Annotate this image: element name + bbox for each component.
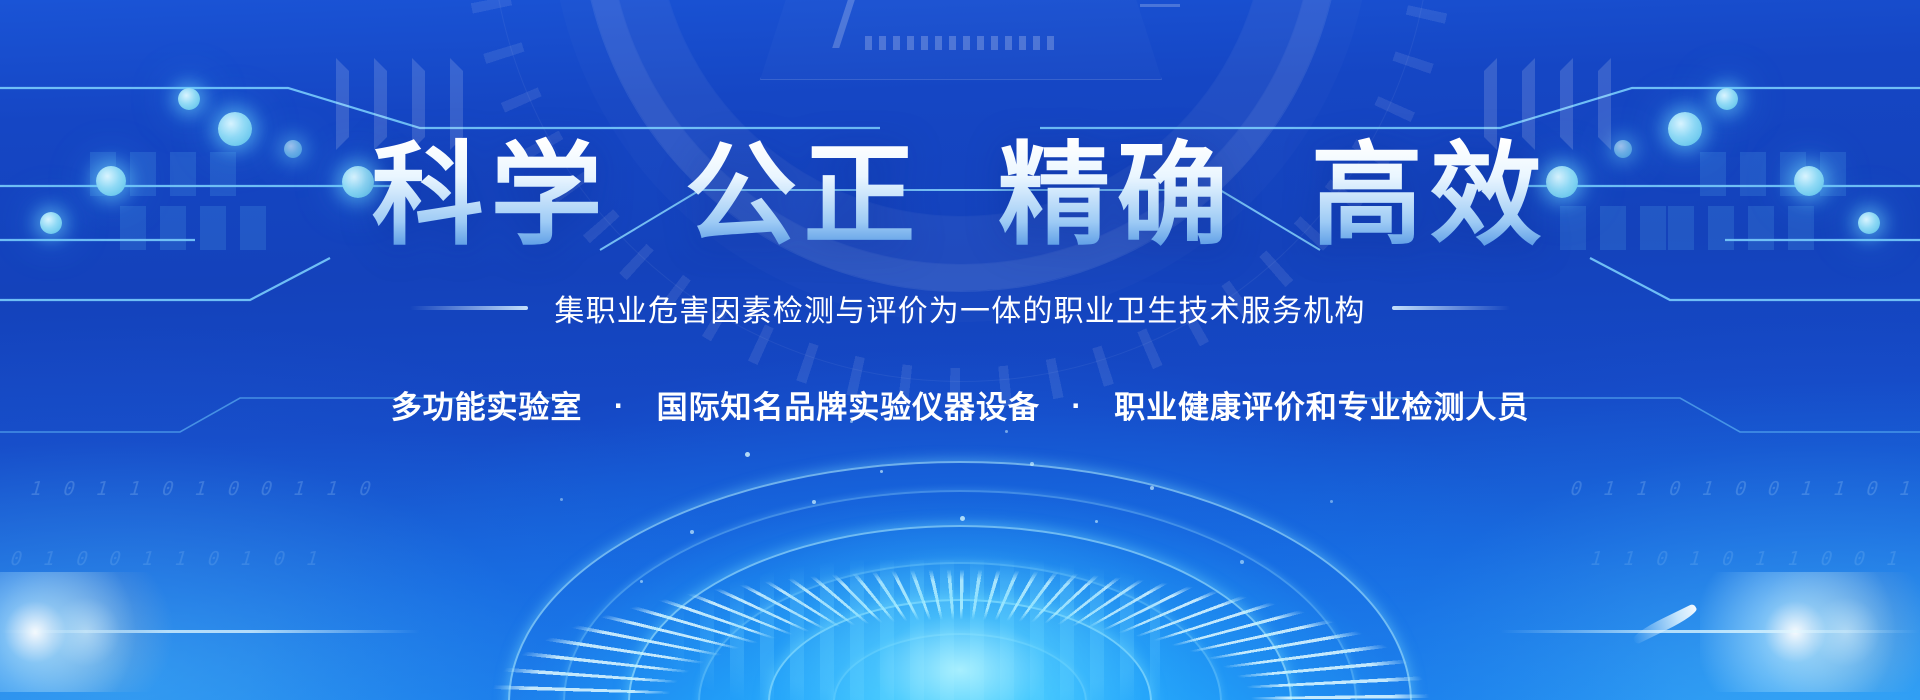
tagline-separator: ·: [1049, 388, 1104, 424]
headline-text: 科学 公正 精确 高效: [372, 133, 1549, 258]
tagline-item-1: 多功能实验室: [391, 390, 583, 425]
tagline-item-2: 国际知名品牌实验仪器设备: [657, 390, 1040, 425]
page-title: 科学 公正 精确 高效: [0, 0, 1920, 252]
subtitle-rule-left: [410, 306, 528, 310]
radar-core-glow-icon: [730, 520, 1190, 700]
subtitle-row: 集职业危害因素检测与评价为一体的职业卫生技术服务机构: [0, 286, 1920, 330]
hero-banner: 1 0 1 1 0 1 0 0 1 1 0 1 0 1 1 0 0 1 0 1 …: [0, 0, 1920, 700]
tagline-item-3: 职业健康评价和专业检测人员: [1114, 390, 1529, 425]
tagline-separator: ·: [592, 388, 647, 424]
subtitle-rule-right: [1392, 306, 1510, 310]
banner-content: 科学 公正 精确 高效 集职业危害因素检测与评价为一体的职业卫生技术服务机构 多…: [0, 0, 1920, 427]
banner-tagline: 多功能实验室 · 国际知名品牌实验仪器设备 · 职业健康评价和专业检测人员: [0, 382, 1920, 427]
banner-subtitle: 集职业危害因素检测与评价为一体的职业卫生技术服务机构: [554, 286, 1365, 330]
